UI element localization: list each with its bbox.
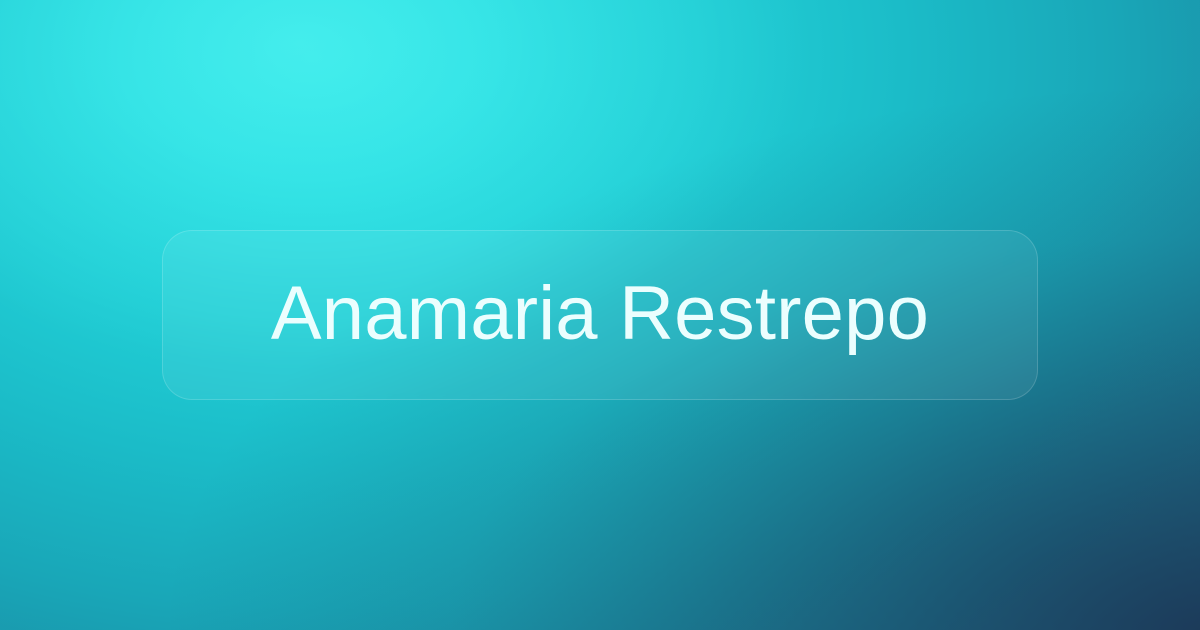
name-panel: Anamaria Restrepo [162,230,1038,400]
profile-name: Anamaria Restrepo [271,276,929,352]
og-preview-card: Anamaria Restrepo [0,0,1200,630]
